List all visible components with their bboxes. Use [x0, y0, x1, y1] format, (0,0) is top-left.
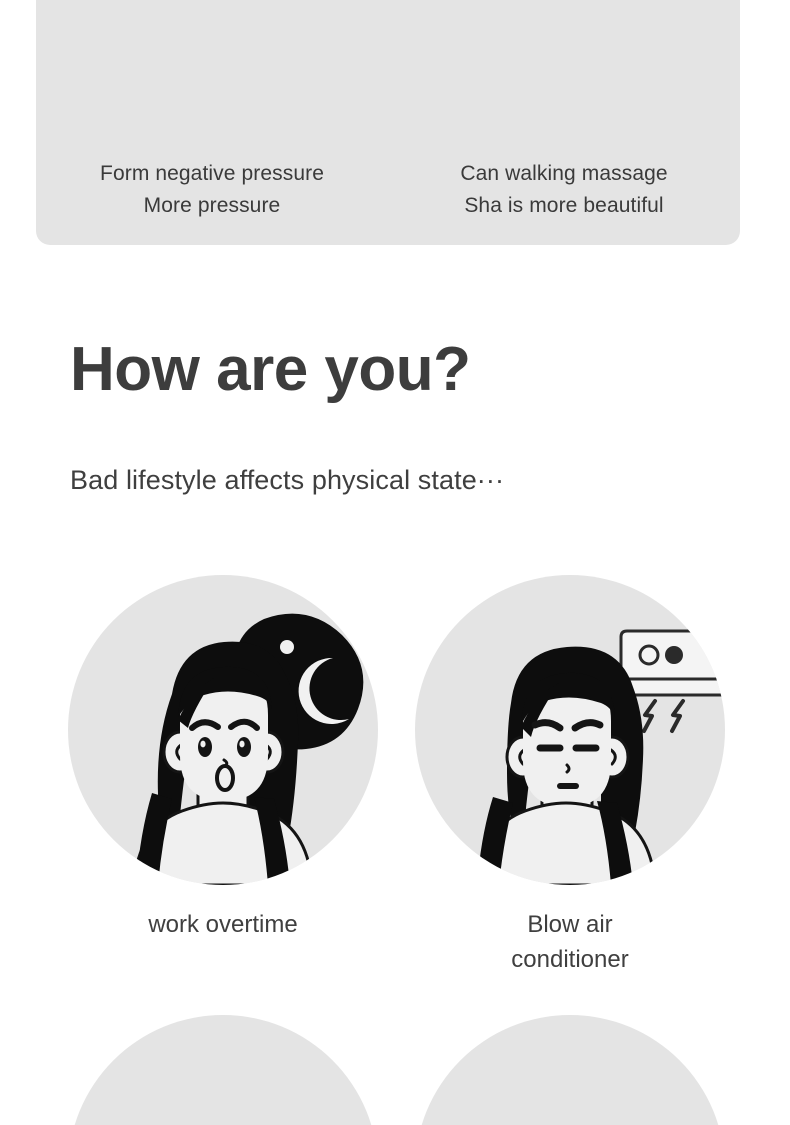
reason-label-0: work overtime — [47, 907, 399, 942]
feature-item-0: Form negative pressure More pressure — [36, 0, 388, 245]
woman-air-conditioner-icon — [415, 575, 725, 885]
reason-item-row2-0 — [47, 1015, 399, 1125]
product-detail-page: Form negative pressure More pressure — [0, 0, 790, 1125]
woman-night-moon-icon — [68, 575, 378, 885]
woman-head-partial-icon — [68, 1015, 378, 1125]
feature-caption-0: Form negative pressure More pressure — [36, 158, 388, 222]
reason-label-1-line1: Blow air — [527, 911, 612, 938]
reason-label-1-line2: conditioner — [394, 942, 746, 977]
section-headline: How are you? — [70, 337, 471, 402]
reason-row-1: work overtime — [0, 575, 790, 1015]
cupping-cup-tall-icon — [388, 0, 740, 130]
reason-label-0-line1: work overtime — [148, 911, 297, 938]
reason-grid: work overtime — [0, 575, 790, 1125]
feature-panel: Form negative pressure More pressure — [36, 0, 740, 245]
feature-caption-1-line2: Sha is more beautiful — [388, 190, 740, 222]
section-subline: Bad lifestyle affects physical state··· — [70, 465, 504, 496]
reason-item-blow-air-conditioner: Blow air conditioner — [394, 575, 746, 977]
cupping-cup-wide-icon — [36, 0, 388, 130]
feature-caption-1: Can walking massage Sha is more beautifu… — [388, 158, 740, 222]
reason-item-row2-1 — [394, 1015, 746, 1125]
woman-head-partial-icon — [415, 1015, 725, 1125]
feature-caption-0-line1: Form negative pressure — [100, 162, 324, 185]
reason-row-2 — [0, 1015, 790, 1125]
feature-caption-1-line1: Can walking massage — [460, 162, 667, 185]
reason-label-1: Blow air conditioner — [394, 907, 746, 977]
reason-item-work-overtime: work overtime — [47, 575, 399, 942]
feature-caption-0-line2: More pressure — [36, 190, 388, 222]
feature-item-1: Can walking massage Sha is more beautifu… — [388, 0, 740, 245]
